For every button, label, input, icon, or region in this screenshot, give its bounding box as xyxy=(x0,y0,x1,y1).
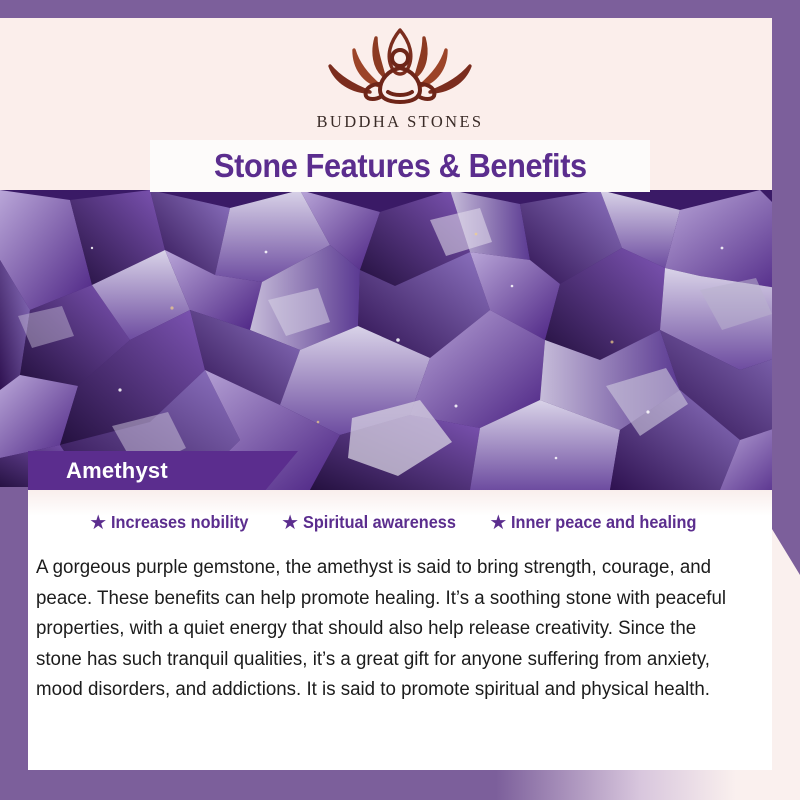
hero-image xyxy=(0,190,800,490)
lotus-meditation-icon xyxy=(310,22,490,108)
benefit-label: Inner peace and healing xyxy=(511,512,696,533)
content-panel: ★ Increases nobility ★ Spiritual awarene… xyxy=(28,490,772,770)
benefit-item-3: ★ Inner peace and healing xyxy=(489,512,710,533)
star-icon: ★ xyxy=(89,513,107,533)
stone-name-ribbon: Amethyst xyxy=(28,451,298,490)
frame-top-border xyxy=(0,0,800,18)
benefit-item-1: ★ Increases nobility xyxy=(89,512,259,533)
frame-left-border xyxy=(0,487,28,800)
description-paragraph: A gorgeous purple gemstone, the amethyst… xyxy=(36,552,739,705)
product-info-card: BUDDHA STONES Stone Features & Benefits … xyxy=(0,0,800,800)
frame-bottom-border xyxy=(0,770,800,800)
benefit-item-2: ★ Spiritual awareness xyxy=(281,512,467,533)
star-icon: ★ xyxy=(489,513,507,533)
amethyst-crystal-graphic xyxy=(0,190,800,490)
benefits-list: ★ Increases nobility ★ Spiritual awarene… xyxy=(28,512,772,533)
benefit-label: Spiritual awareness xyxy=(303,512,456,533)
benefit-label: Increases nobility xyxy=(111,512,248,533)
brand-logo: BUDDHA STONES xyxy=(0,22,800,132)
star-icon: ★ xyxy=(281,513,299,533)
page-title: Stone Features & Benefits xyxy=(150,140,650,192)
stone-name-label: Amethyst xyxy=(28,458,168,484)
brand-name: BUDDHA STONES xyxy=(316,112,483,132)
frame-right-border xyxy=(772,0,800,575)
page-title-text: Stone Features & Benefits xyxy=(214,147,587,185)
